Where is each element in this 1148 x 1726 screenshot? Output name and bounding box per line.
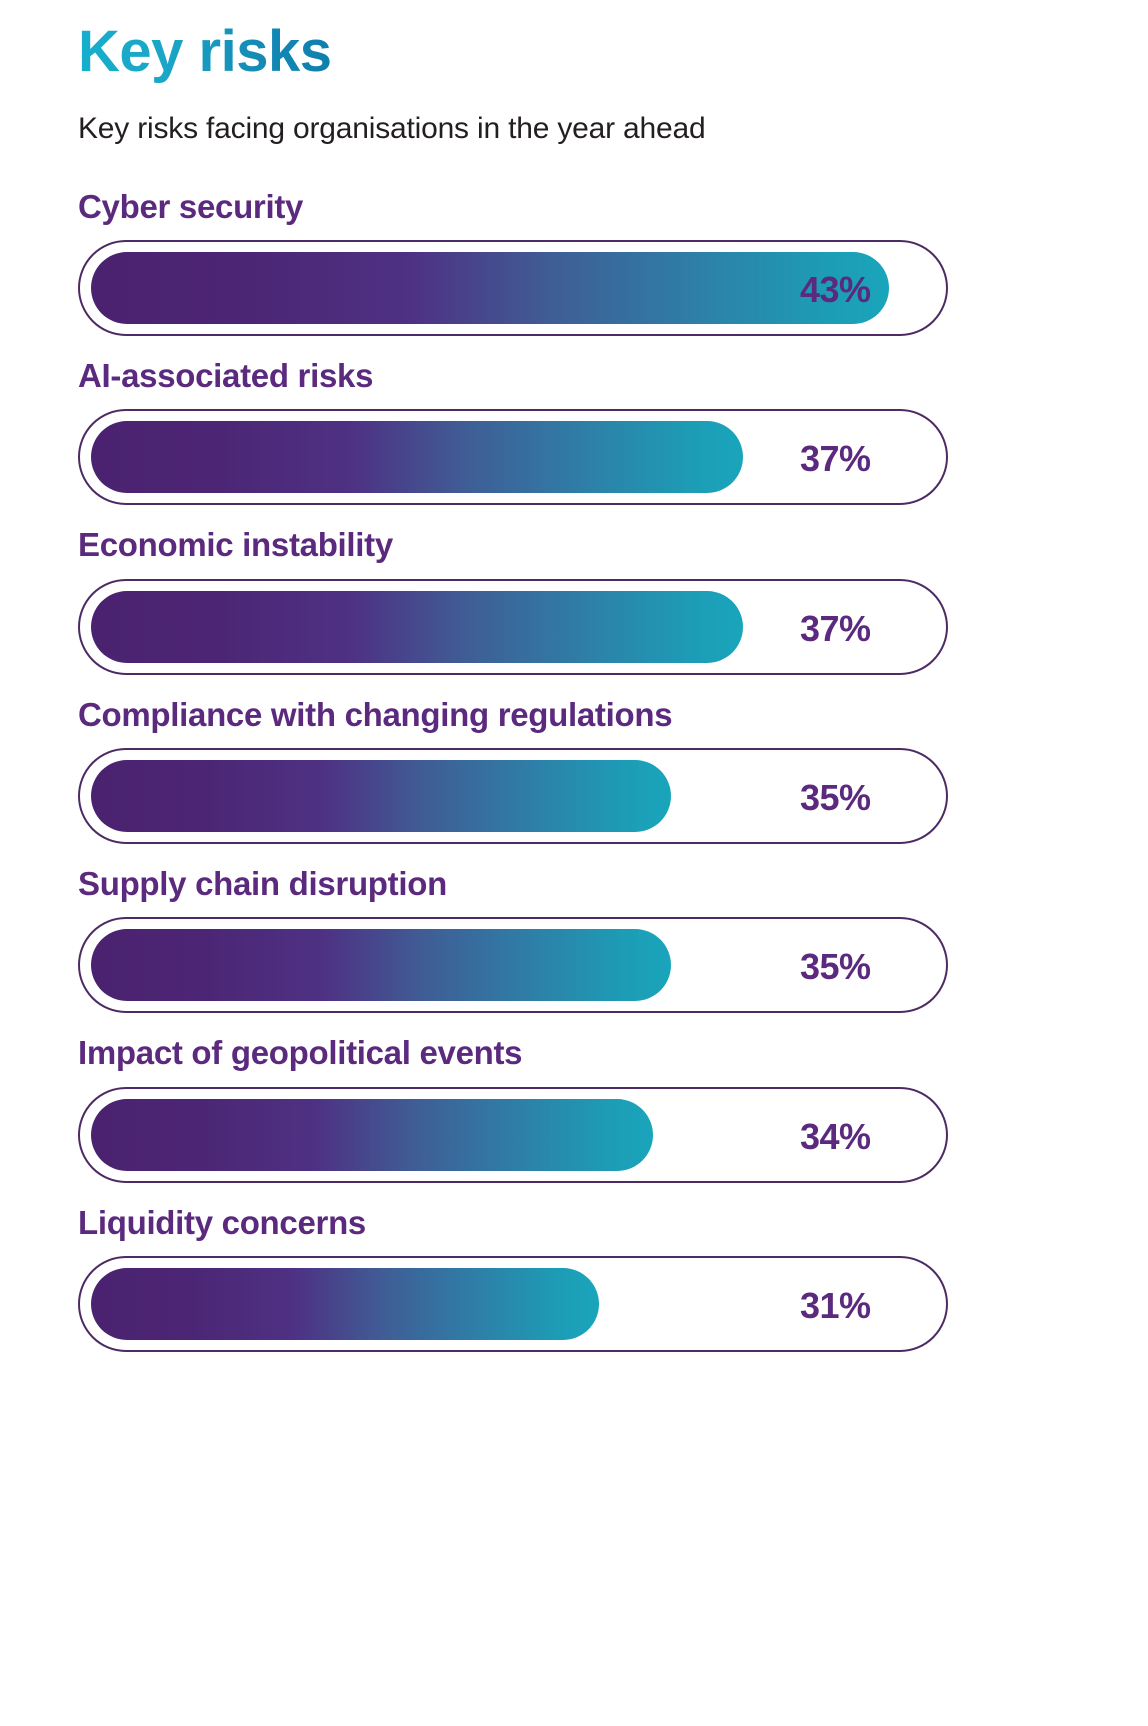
risk-label-cyber-security: Cyber security	[78, 189, 1148, 225]
bar-track: 35%	[78, 748, 948, 844]
risk-label-impact-of-geopolitical-events: Impact of geopolitical events	[78, 1035, 1148, 1071]
bar-line: 37%	[78, 579, 948, 675]
bar-value-label: 37%	[786, 581, 946, 677]
risk-label-ai-associated-risks: AI-associated risks	[78, 358, 1148, 394]
risk-label-liquidity-concerns: Liquidity concerns	[78, 1205, 1148, 1241]
bar-track: 43%	[78, 240, 948, 336]
risk-row: AI-associated risks 37%	[78, 358, 1148, 505]
bar-line: 31%	[78, 1256, 948, 1352]
bar-fill	[91, 929, 671, 1001]
bar-line: 37%	[78, 409, 948, 505]
risk-row: Cyber security 43%	[78, 189, 1148, 336]
page-title: Key risks	[78, 22, 331, 83]
bar-fill	[91, 591, 743, 663]
bar-fill	[91, 252, 889, 324]
key-risks-infographic: Key risks Key risks facing organisations…	[0, 0, 1148, 1726]
chart-header: Key risks Key risks facing organisations…	[0, 0, 1148, 147]
bar-value-label: 34%	[786, 1089, 946, 1185]
bar-line: 35%	[78, 748, 948, 844]
risk-label-economic-instability: Economic instability	[78, 527, 1148, 563]
bar-track: 37%	[78, 579, 948, 675]
bar-value-label: 35%	[786, 919, 946, 1015]
risk-row: Compliance with changing regulations 35%	[78, 697, 1148, 844]
risk-label-supply-chain-disruption: Supply chain disruption	[78, 866, 1148, 902]
risk-row: Impact of geopolitical events 34%	[78, 1035, 1148, 1182]
bar-line: 43%	[78, 240, 948, 336]
bar-track: 35%	[78, 917, 948, 1013]
bar-value-label: 35%	[786, 750, 946, 846]
bar-line: 35%	[78, 917, 948, 1013]
bar-track: 31%	[78, 1256, 948, 1352]
bar-fill	[91, 421, 743, 493]
bar-value-label: 43%	[786, 242, 946, 338]
bar-track: 37%	[78, 409, 948, 505]
bar-fill	[91, 760, 671, 832]
risk-row: Economic instability 37%	[78, 527, 1148, 674]
bar-value-label: 37%	[786, 411, 946, 507]
risk-row: Supply chain disruption 35%	[78, 866, 1148, 1013]
bar-fill	[91, 1268, 599, 1340]
risk-row: Liquidity concerns 31%	[78, 1205, 1148, 1352]
bar-fill	[91, 1099, 653, 1171]
bar-value-label: 31%	[786, 1258, 946, 1354]
risk-bar-chart: Cyber security 43% AI-associated risks 3…	[0, 189, 1148, 1352]
page-subtitle: Key risks facing organisations in the ye…	[78, 111, 1148, 147]
risk-label-compliance-with-changing-regulations: Compliance with changing regulations	[78, 697, 1148, 733]
bar-track: 34%	[78, 1087, 948, 1183]
bar-line: 34%	[78, 1087, 948, 1183]
